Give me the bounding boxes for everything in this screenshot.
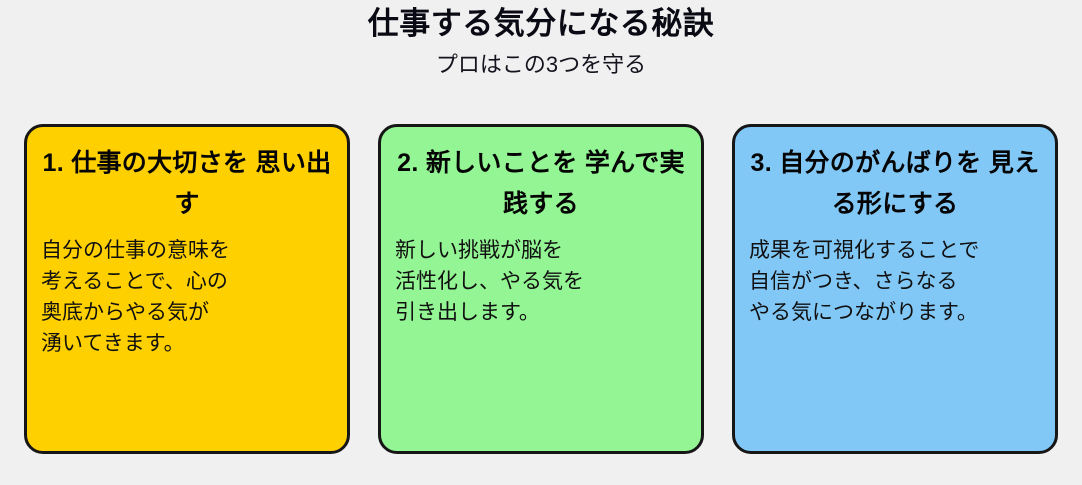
page-subtitle: プロはこの3つを守る — [0, 43, 1082, 79]
card-3: 3. 自分のがんばりを 見える形にする 成果を可視化することで 自信がつき、さら… — [732, 124, 1058, 454]
card-1-body: 自分の仕事の意味を 考えることで、心の 奥底からやる気が 湧いてきます。 — [39, 225, 335, 359]
card-3-body: 成果を可視化することで 自信がつき、さらなる やる気につながります。 — [747, 225, 1043, 328]
page-title: 仕事する気分になる秘訣 — [0, 0, 1082, 43]
card-1: 1. 仕事の大切さを 思い出す 自分の仕事の意味を 考えることで、心の 奥底から… — [24, 124, 350, 454]
card-row: 1. 仕事の大切さを 思い出す 自分の仕事の意味を 考えることで、心の 奥底から… — [24, 124, 1058, 454]
infographic-page: 仕事する気分になる秘訣 プロはこの3つを守る 1. 仕事の大切さを 思い出す 自… — [0, 0, 1082, 485]
card-3-title: 3. 自分のがんばりを 見える形にする — [747, 143, 1043, 225]
header: 仕事する気分になる秘訣 プロはこの3つを守る — [0, 0, 1082, 79]
card-2: 2. 新しいことを 学んで実践する 新しい挑戦が脳を 活性化し、やる気を 引き出… — [378, 124, 704, 454]
card-2-body: 新しい挑戦が脳を 活性化し、やる気を 引き出します。 — [393, 225, 689, 328]
card-2-title: 2. 新しいことを 学んで実践する — [393, 143, 689, 225]
card-1-title: 1. 仕事の大切さを 思い出す — [39, 143, 335, 225]
